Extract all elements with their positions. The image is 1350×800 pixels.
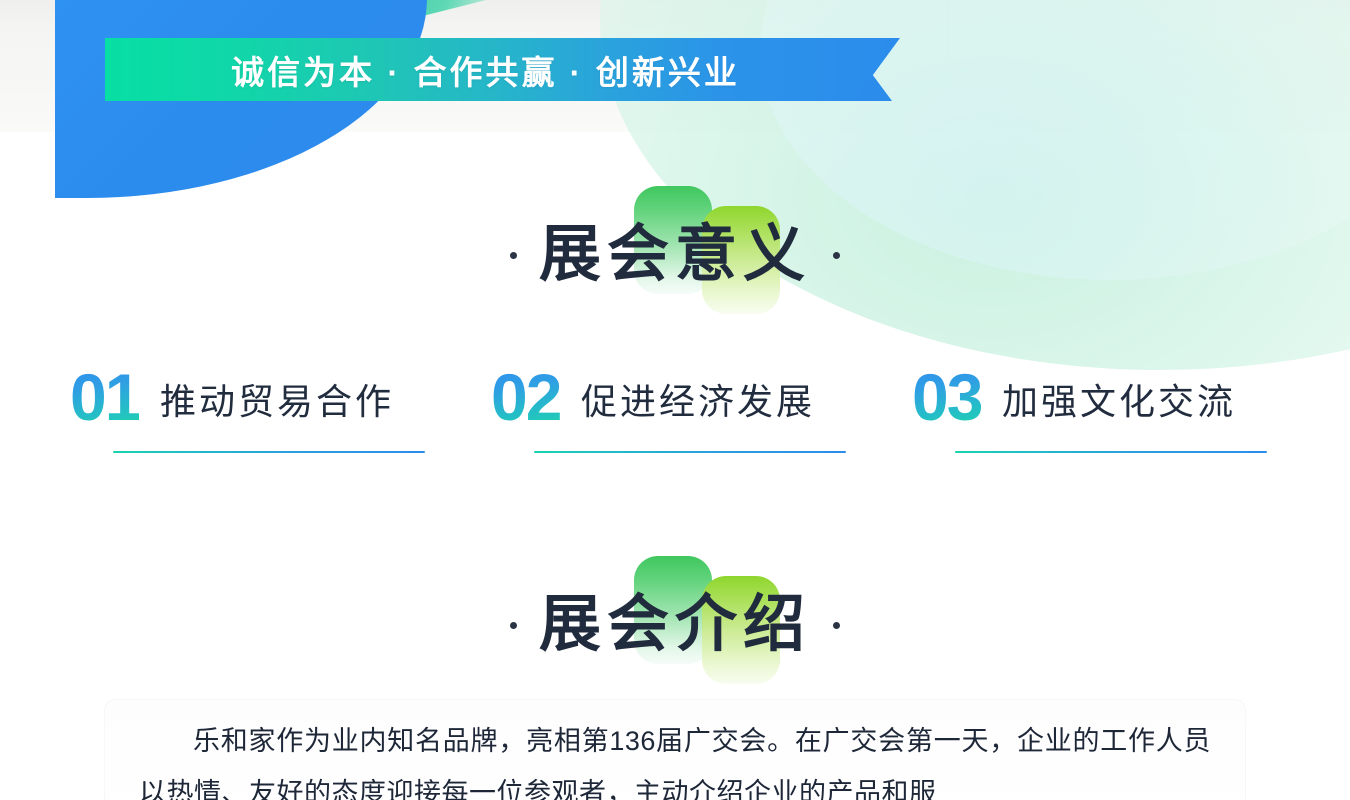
point-item-01: 01 推动贸易合作 xyxy=(70,362,438,462)
section-heading-significance: 展会意义 xyxy=(0,195,1350,315)
point-label-03: 加强文化交流 xyxy=(1002,373,1236,425)
slogan-text: 诚信为本 · 合作共赢 · 创新兴业 xyxy=(231,46,774,94)
section-title-significance: 展会意义 xyxy=(539,220,811,289)
point-item-02: 02 促进经济发展 xyxy=(491,362,859,462)
point-number-03: 03 xyxy=(912,364,981,430)
point-item-03: 03 加强文化交流 xyxy=(912,362,1280,462)
heading-dot-right-icon xyxy=(833,252,840,259)
point-label-02: 促进经济发展 xyxy=(581,373,815,425)
point-number-01: 01 xyxy=(70,364,139,430)
section-heading-introduction: 展会介绍 xyxy=(0,565,1350,685)
section-title-introduction: 展会介绍 xyxy=(539,590,811,659)
point-underline-01 xyxy=(113,451,425,453)
introduction-text-card: 乐和家作为业内知名品牌，亮相第136届广交会。在广交会第一天，企业的工作人员以热… xyxy=(105,700,1245,800)
point-number-02: 02 xyxy=(491,364,560,430)
significance-points-row: 01 推动贸易合作 02 促进经济发展 03 加强文化交流 xyxy=(0,362,1350,462)
slogan-banner: 诚信为本 · 合作共赢 · 创新兴业 xyxy=(105,38,900,101)
introduction-paragraph: 乐和家作为业内知名品牌，亮相第136届广交会。在广交会第一天，企业的工作人员以热… xyxy=(139,716,1211,800)
heading-dot-left-icon-2 xyxy=(510,622,517,629)
point-underline-03 xyxy=(955,451,1267,453)
point-underline-02 xyxy=(534,451,846,453)
promo-page: 诚信为本 · 合作共赢 · 创新兴业 展会意义 01 推动贸易合作 02 促进经… xyxy=(0,0,1350,800)
heading-dot-left-icon xyxy=(510,252,517,259)
point-label-01: 推动贸易合作 xyxy=(160,373,394,425)
heading-dot-right-icon-2 xyxy=(833,622,840,629)
